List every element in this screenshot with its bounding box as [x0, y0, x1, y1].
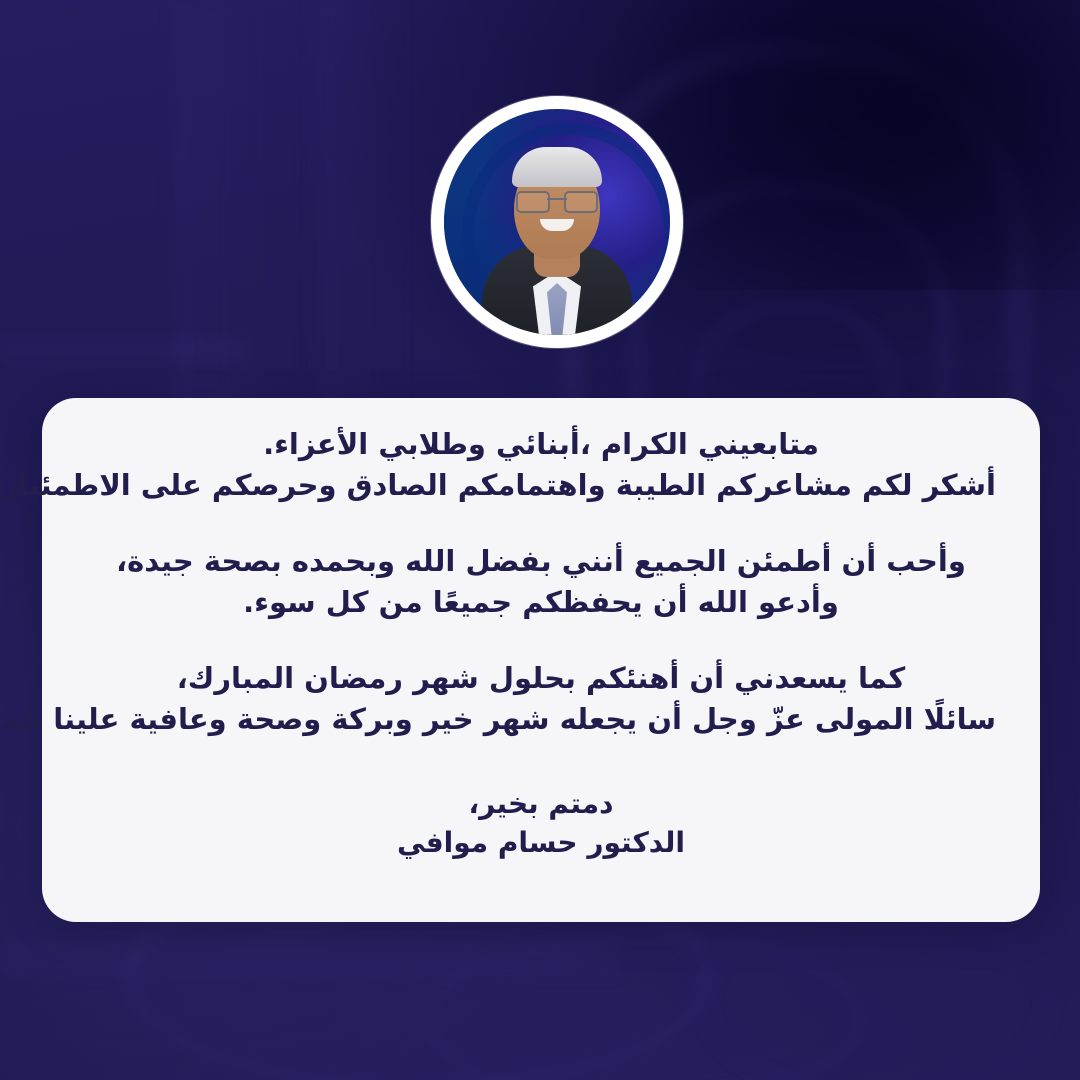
greeting-card-image: متابعيني الكرام ،أبنائي وطلابي الأعزاء. …	[0, 0, 1080, 1080]
paragraph-greeting-line-2: أشكر لكم مشاعركم الطيبة واهتمامكم الصادق…	[86, 465, 996, 506]
paragraph-ramadan-wishes-line-1: كما يسعدني أن أهنئكم بحلول شهر رمضان الم…	[86, 658, 996, 699]
avatar	[431, 96, 683, 348]
paragraph-health-update: وأحب أن أطمئن الجميع أنني بفضل الله وبحم…	[86, 541, 996, 622]
avatar-photo	[444, 109, 670, 335]
paragraph-greeting: متابعيني الكرام ،أبنائي وطلابي الأعزاء. …	[86, 424, 996, 505]
signature-block: دمتم بخير، الدكتور حسام موافي	[86, 784, 996, 862]
avatar-person-figure	[444, 159, 670, 335]
eyeglasses-right-lens	[564, 191, 598, 213]
paragraph-greeting-line-1: متابعيني الكرام ،أبنائي وطلابي الأعزاء.	[86, 424, 996, 465]
paragraph-ramadan-wishes: كما يسعدني أن أهنئكم بحلول شهر رمضان الم…	[86, 658, 996, 739]
message-card-body: متابعيني الكرام ،أبنائي وطلابي الأعزاء. …	[42, 398, 1040, 922]
eyeglasses-bridge	[547, 198, 567, 200]
background-pillar-left	[172, 0, 292, 430]
signature-closing: دمتم بخير،	[86, 784, 996, 823]
eyeglasses-left-lens	[516, 191, 550, 213]
paragraph-health-update-line-2: وأدعو الله أن يحفظكم جميعًا من كل سوء.	[86, 582, 996, 623]
message-card: متابعيني الكرام ،أبنائي وطلابي الأعزاء. …	[42, 398, 1040, 922]
signature-name: الدكتور حسام موافي	[86, 823, 996, 862]
paragraph-health-update-line-1: وأحب أن أطمئن الجميع أنني بفضل الله وبحم…	[86, 541, 996, 582]
background-ledge-upper	[0, 336, 250, 364]
paragraph-ramadan-wishes-line-2: سائلًا المولى عزّ وجل أن يجعله شهر خير و…	[86, 699, 996, 740]
avatar-hair	[512, 147, 602, 187]
eyeglasses-icon	[516, 191, 598, 209]
